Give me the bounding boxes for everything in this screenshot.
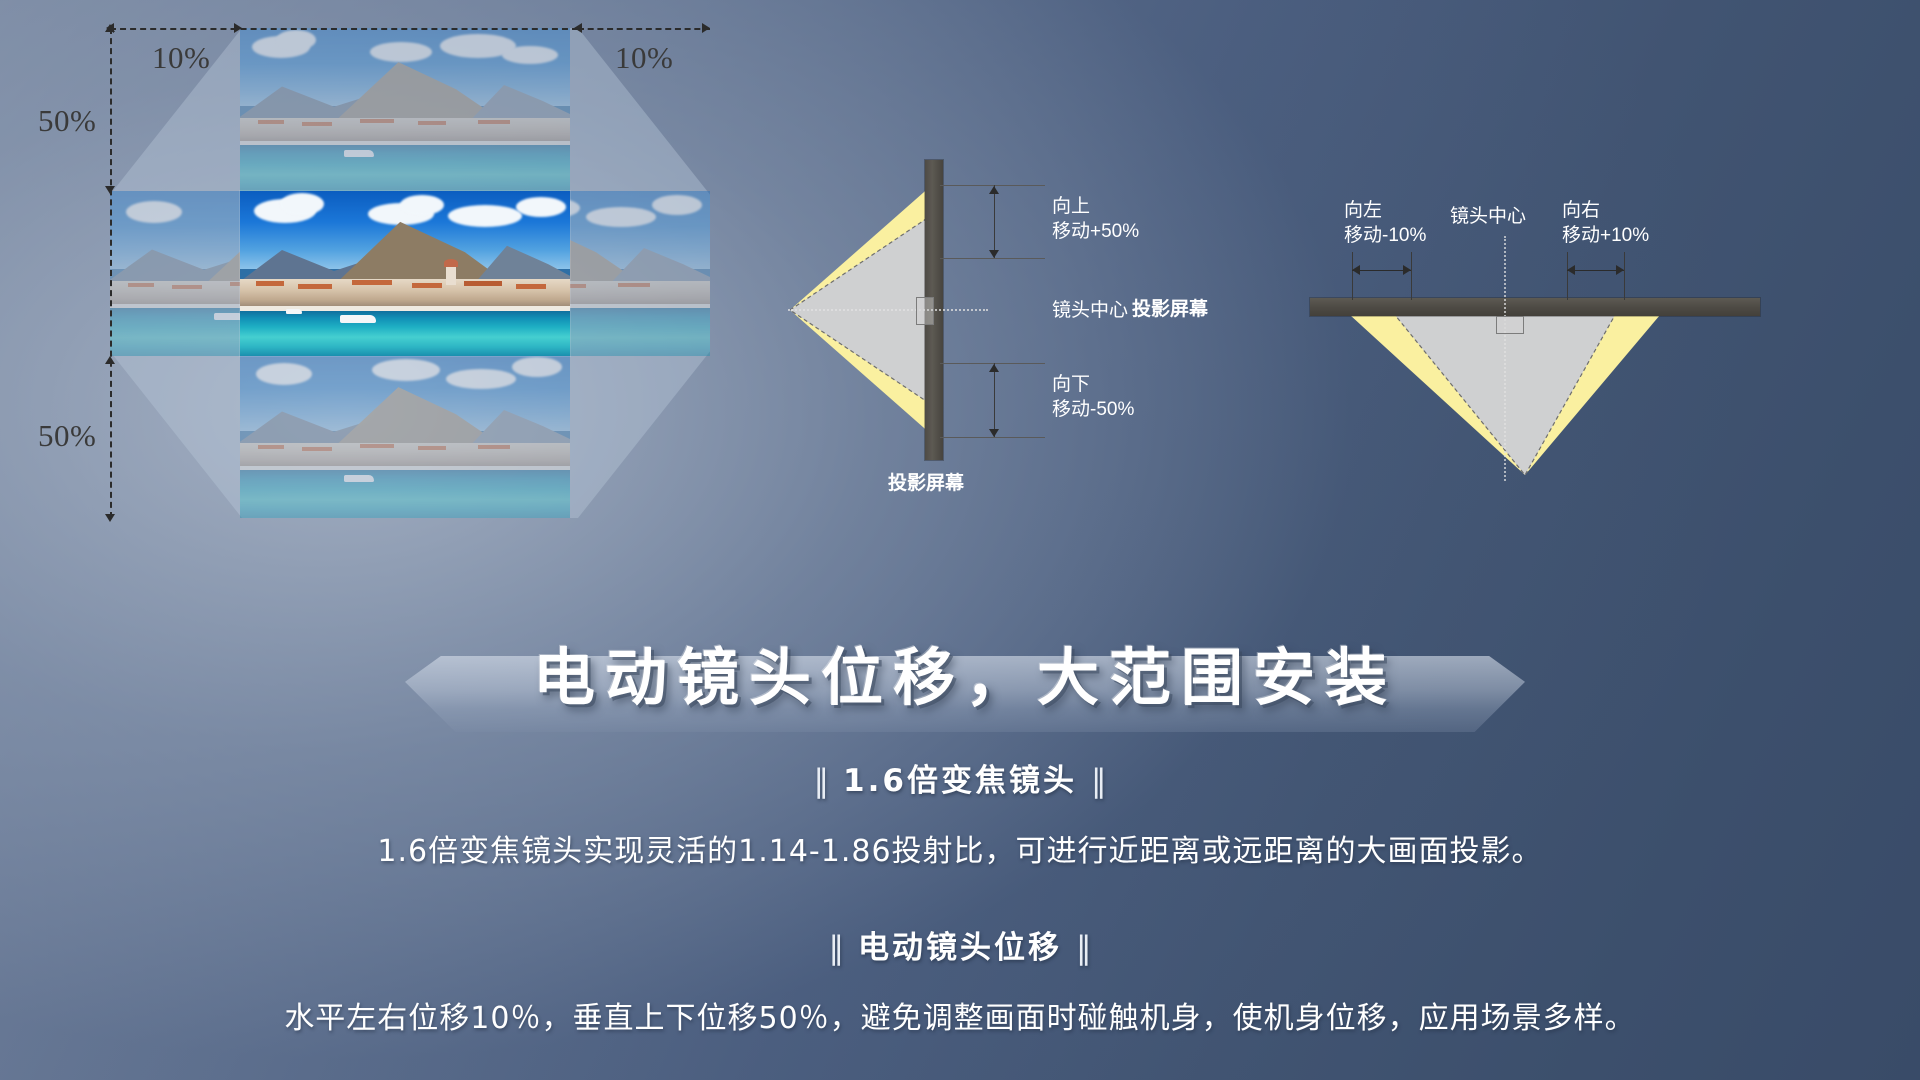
feature-text-block: ‖1.6倍变焦镜头‖ 1.6倍变焦镜头实现灵活的1.14-1.86投射比，可进行… bbox=[0, 755, 1920, 1037]
shifted-image-bottom bbox=[240, 353, 570, 518]
heading-bar-left-zoom: ‖ bbox=[800, 763, 844, 799]
label-shift-up: 向上 移动+50% bbox=[1052, 194, 1139, 244]
label-shift-left: 向左 移动-10% bbox=[1344, 198, 1426, 248]
lens-center-axis-horizontal bbox=[1504, 236, 1506, 481]
label-shift-down: 向下 移动-50% bbox=[1052, 372, 1134, 422]
section-body-shift: 水平左右位移10％，垂直上下位移50％，避免调整画面时碰触机身，使机身位移，应用… bbox=[0, 993, 1920, 1037]
horizontal-beam-svg bbox=[1180, 190, 1880, 520]
label-screen-vertical: 投影屏幕 bbox=[888, 468, 964, 495]
dim-top-lower bbox=[940, 258, 1045, 259]
label-shift-down-line1: 向下 bbox=[1052, 374, 1090, 395]
section-heading-zoom: ‖1.6倍变焦镜头‖ bbox=[0, 755, 1920, 800]
guide-top-horizontal bbox=[110, 28, 578, 30]
label-shift-up-line2: 移动+50% bbox=[1052, 221, 1139, 242]
label-10pct-left: 10% bbox=[152, 40, 210, 76]
lens-center-marker bbox=[916, 297, 934, 325]
label-lens-center-vertical: 镜头中心 bbox=[1052, 298, 1128, 323]
section-body-zoom: 1.6倍变焦镜头实现灵活的1.14-1.86投射比，可进行近距离或远距离的大画面… bbox=[0, 826, 1920, 870]
dim-right-b bbox=[1624, 252, 1625, 300]
dim-left-b bbox=[1411, 252, 1412, 300]
lens-center-axis bbox=[788, 309, 988, 311]
label-50pct-lower: 50% bbox=[38, 418, 96, 454]
guide-topright-horizontal bbox=[578, 28, 710, 30]
dim-right-a bbox=[1567, 252, 1568, 300]
heading-bar-left-shift: ‖ bbox=[815, 930, 859, 966]
horizontal-shift-diagram: 向左 移动-10% 镜头中心 向右 移动+10% 投影屏幕 bbox=[1180, 190, 1880, 520]
shifted-image-top bbox=[240, 28, 570, 193]
dim-left-a bbox=[1352, 252, 1353, 300]
heading-bar-right-shift: ‖ bbox=[1062, 930, 1106, 966]
slide-canvas: 10% 10% 50% 50% 向上 移动+50% 镜头中心 bbox=[0, 0, 1920, 1080]
section-heading-shift: ‖电动镜头位移‖ bbox=[0, 922, 1920, 967]
heading-bar-right-zoom: ‖ bbox=[1077, 763, 1121, 799]
label-shift-up-line1: 向上 bbox=[1052, 196, 1090, 217]
dim-bottom-vline bbox=[994, 363, 995, 437]
label-shift-left-line1: 向左 bbox=[1344, 200, 1382, 221]
label-shift-down-line2: 移动-50% bbox=[1052, 399, 1134, 420]
lens-shift-coverage-diagram: 10% 10% 50% 50% bbox=[110, 28, 710, 518]
dim-bottom-lower bbox=[940, 437, 1045, 438]
projection-screen-horizontal bbox=[1310, 298, 1760, 316]
lens-center-marker-horizontal bbox=[1496, 316, 1524, 334]
guide-left-vertical bbox=[110, 28, 112, 518]
label-lens-center-horizontal: 镜头中心 bbox=[1450, 204, 1526, 229]
vertical-shift-diagram: 向上 移动+50% 镜头中心 向下 移动-50% 投影屏幕 bbox=[780, 150, 1140, 510]
label-50pct-upper: 50% bbox=[38, 103, 96, 139]
page-title: 电动镜头位移，大范围安装 bbox=[405, 630, 1525, 726]
label-shift-right: 向右 移动+10% bbox=[1562, 198, 1649, 248]
label-shift-left-line2: 移动-10% bbox=[1344, 225, 1426, 246]
heading-text-zoom: 1.6倍变焦镜头 bbox=[843, 763, 1077, 799]
dim-top-vline bbox=[994, 185, 995, 258]
label-shift-right-line1: 向右 bbox=[1562, 200, 1600, 221]
label-shift-right-line2: 移动+10% bbox=[1562, 225, 1649, 246]
title-banner: 电动镜头位移，大范围安装 bbox=[405, 630, 1525, 750]
projected-image-center bbox=[240, 191, 570, 356]
heading-text-shift: 电动镜头位移 bbox=[858, 930, 1062, 966]
label-screen-horizontal: 投影屏幕 bbox=[1132, 294, 1208, 321]
label-10pct-right: 10% bbox=[615, 40, 673, 76]
